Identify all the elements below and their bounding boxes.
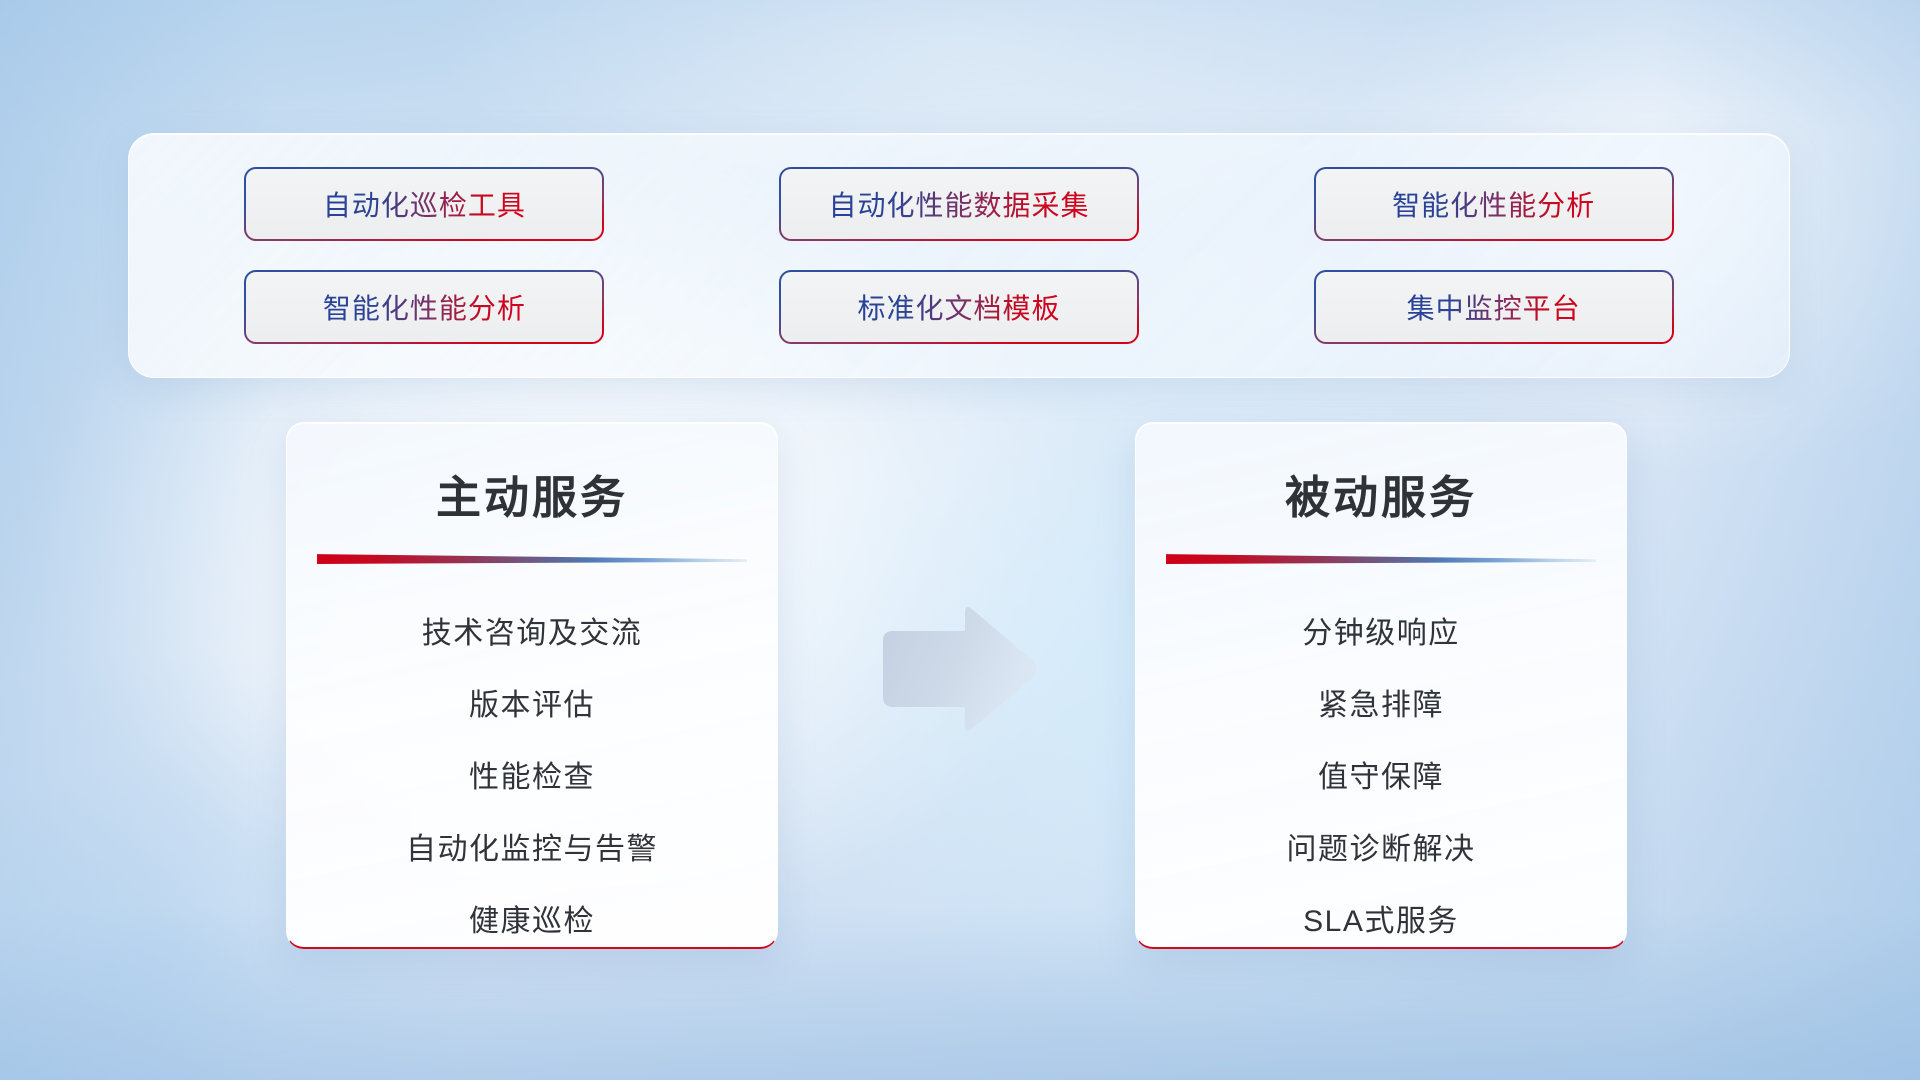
capability-tags-panel: 自动化巡检工具 自动化性能数据采集 智能化性能分析 智能化性能分析 标准化文档模…	[128, 133, 1790, 378]
capability-tag[interactable]: 自动化性能数据采集	[781, 169, 1137, 239]
service-list-item: 分钟级响应	[1136, 598, 1626, 670]
service-list-item: 紧急排障	[1136, 670, 1626, 742]
capability-tag-label: 集中监控平台	[1407, 287, 1581, 327]
capability-tag-label: 标准化文档模板	[857, 287, 1060, 327]
service-list-item: 自动化监控与告警	[287, 814, 777, 886]
card-divider-bar	[317, 552, 747, 564]
card-title: 被动服务	[1136, 461, 1626, 526]
service-list-item: 问题诊断解决	[1136, 814, 1626, 886]
capability-tag-label: 智能化性能分析	[323, 287, 526, 327]
service-card-active: 主动服务 技术咨询及交流 版本评估 性能检查 自动化监控与告警 健康巡检	[286, 422, 778, 949]
slide-canvas: 自动化巡检工具 自动化性能数据采集 智能化性能分析 智能化性能分析 标准化文档模…	[0, 0, 1920, 1080]
service-item-list: 技术咨询及交流 版本评估 性能检查 自动化监控与告警 健康巡检	[287, 598, 777, 949]
card-divider	[317, 552, 747, 564]
service-list-item: SLA式服务	[1136, 886, 1626, 949]
service-list-item: 值守保障	[1136, 742, 1626, 814]
capability-tag-label: 自动化性能数据采集	[828, 184, 1089, 224]
capability-tag[interactable]: 自动化巡检工具	[246, 169, 602, 239]
capability-tag[interactable]: 标准化文档模板	[781, 272, 1137, 342]
arrow-right-icon	[873, 607, 1038, 731]
capability-tag[interactable]: 集中监控平台	[1316, 272, 1672, 342]
service-list-item: 性能检查	[287, 742, 777, 814]
card-divider	[1166, 552, 1596, 564]
service-list-item: 版本评估	[287, 670, 777, 742]
card-title: 主动服务	[287, 461, 777, 526]
capability-tag[interactable]: 智能化性能分析	[246, 272, 602, 342]
capability-tag[interactable]: 智能化性能分析	[1316, 169, 1672, 239]
service-list-item: 健康巡检	[287, 886, 777, 949]
card-divider-bar	[1166, 552, 1596, 564]
service-card-passive: 被动服务 分钟级响应 紧急排障 值守保障 问题诊断解决 SLA式服务	[1135, 422, 1627, 949]
service-list-item: 技术咨询及交流	[287, 598, 777, 670]
service-item-list: 分钟级响应 紧急排障 值守保障 问题诊断解决 SLA式服务	[1136, 598, 1626, 949]
capability-tag-label: 自动化巡检工具	[323, 184, 526, 224]
capability-tag-label: 智能化性能分析	[1392, 184, 1595, 224]
